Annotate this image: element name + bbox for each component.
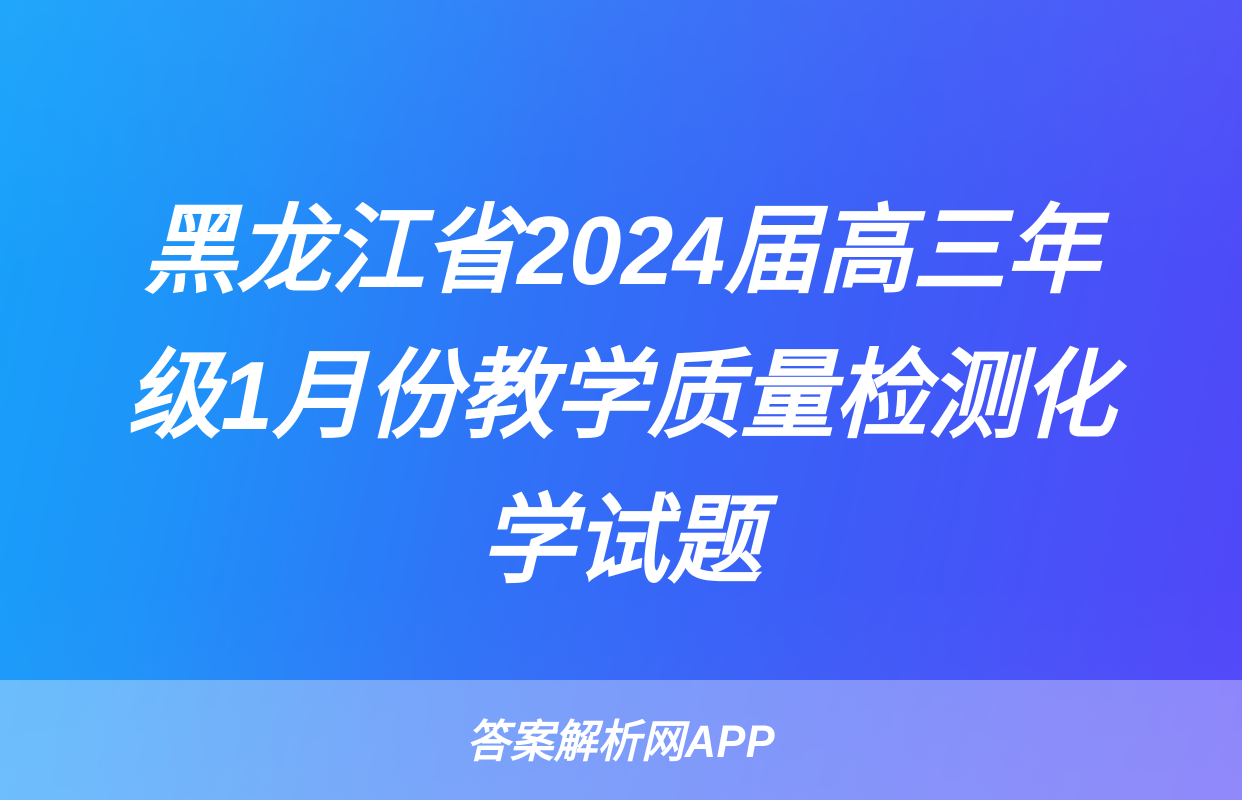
exam-paper-thumbnail-card: 黑龙江省2024届高三年 级1月份教学质量检测化 学试题 答案解析网APP [0, 0, 1242, 800]
title-line-1: 黑龙江省2024届高三年 [61, 178, 1180, 323]
title-line-3: 学试题 [61, 468, 1180, 613]
title-line-2: 级1月份教学质量检测化 [61, 323, 1180, 468]
watermark-brand-label: 答案解析网APP [467, 719, 776, 764]
page-title: 黑龙江省2024届高三年 级1月份教学质量检测化 学试题 [0, 178, 1242, 613]
watermark-band: 答案解析网APP [0, 680, 1242, 800]
